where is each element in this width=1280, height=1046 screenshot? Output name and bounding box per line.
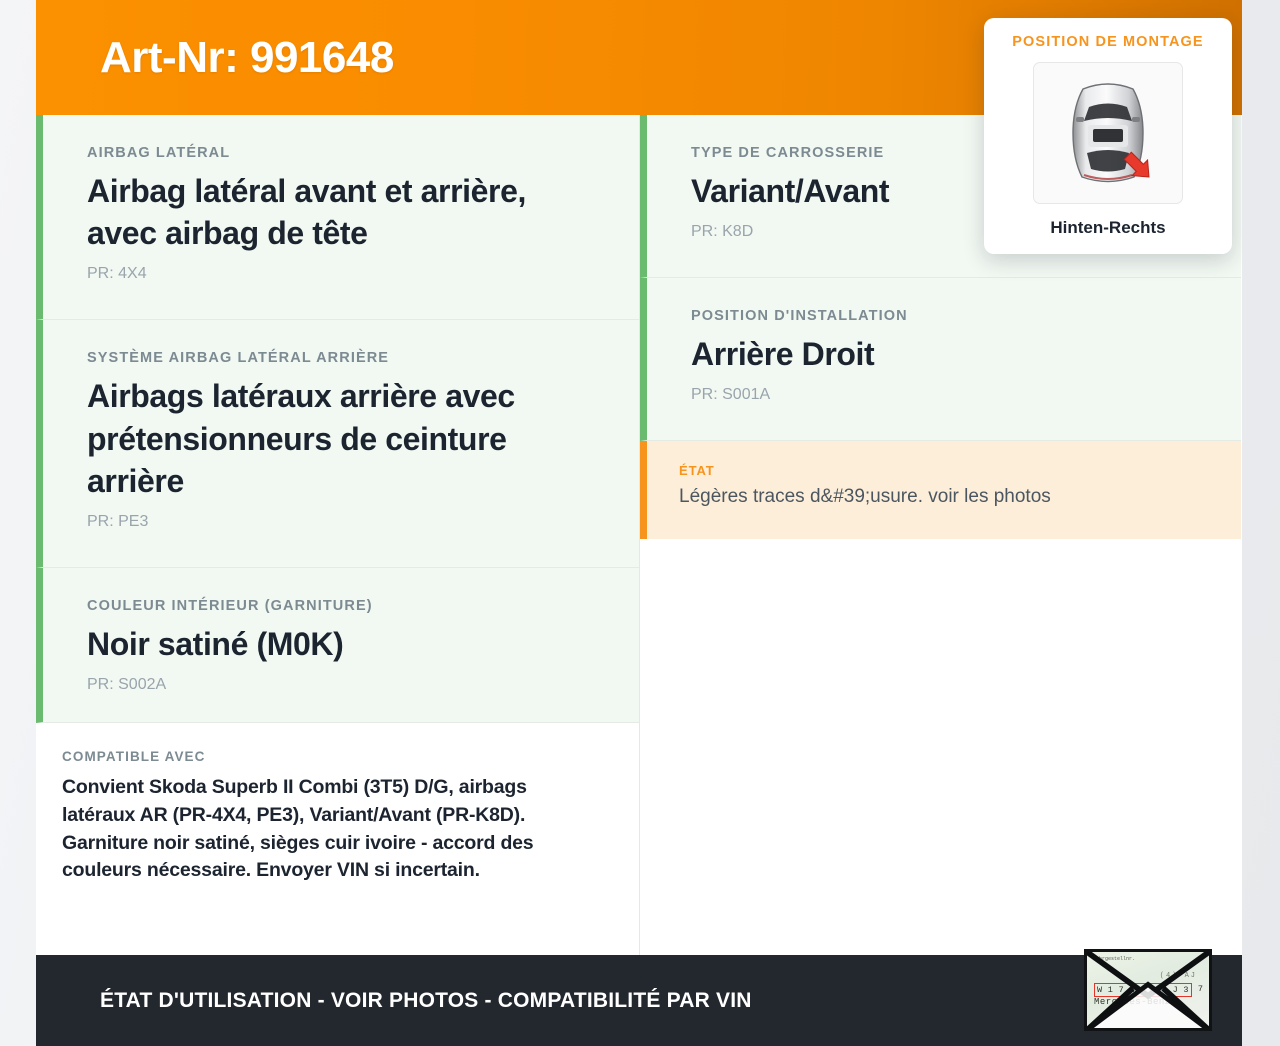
condition-value: Légères traces d&#39;usure. voir les pho… (679, 484, 1197, 511)
spec-value: Airbags latéraux arrière avec prétension… (87, 375, 595, 502)
spec-label: COULEUR INTÉRIEUR (GARNITURE) (87, 598, 595, 614)
spec-value: Noir satiné (M0K) (87, 623, 595, 665)
spec-label: SYSTÈME AIRBAG LATÉRAL ARRIÈRE (87, 350, 595, 366)
spec-pr-code: PR: S002A (87, 676, 595, 694)
spec-label: POSITION D'INSTALLATION (691, 308, 1197, 324)
mount-position-figure (1033, 62, 1183, 204)
envelope-icon (1087, 952, 1209, 1030)
spec-value: Airbag latéral avant et arrière, avec ai… (87, 170, 595, 254)
spec-card-position-d-installation: POSITION D'INSTALLATION Arrière Droit PR… (640, 278, 1241, 441)
product-detail-page: Art-Nr: 991648 POSITION DE MONTAGE (36, 0, 1242, 1046)
spec-pr-code: PR: S001A (691, 386, 1197, 404)
compatibility-text: Convient Skoda Superb II Combi (3T5) D/G… (62, 774, 582, 885)
compatibility-label: COMPATIBLE AVEC (62, 749, 595, 764)
spec-label: AIRBAG LATÉRAL (87, 145, 595, 161)
article-number-title: Art-Nr: 991648 (100, 33, 394, 83)
spec-card-couleur-interieur: COULEUR INTÉRIEUR (GARNITURE) Noir satin… (36, 568, 639, 723)
left-column: AIRBAG LATÉRAL Airbag latéral avant et a… (36, 115, 640, 955)
spec-pr-code: PR: 4X4 (87, 265, 595, 283)
spec-pr-code: PR: PE3 (87, 513, 595, 531)
mount-position-title: POSITION DE MONTAGE (998, 34, 1218, 50)
condition-card: ÉTAT Légères traces d&#39;usure. voir le… (640, 441, 1241, 539)
spec-card-airbag-lateral: AIRBAG LATÉRAL Airbag latéral avant et a… (36, 115, 639, 320)
compatibility-section: COMPATIBLE AVEC Convient Skoda Superb II… (36, 723, 639, 915)
page-footer: ÉTAT D'UTILISATION - VOIR PHOTOS - COMPA… (36, 955, 1242, 1046)
mount-position-card: POSITION DE MONTAGE (984, 18, 1232, 254)
footer-notice: ÉTAT D'UTILISATION - VOIR PHOTOS - COMPA… (100, 989, 752, 1013)
condition-label: ÉTAT (679, 463, 1197, 478)
vin-document-badge: Fahrgestellnr. (4) AJ W 1 7 1 4 6 3 J 3 … (1084, 949, 1212, 1031)
spec-value: Arrière Droit (691, 333, 1197, 375)
mount-position-caption: Hinten-Rechts (998, 218, 1218, 238)
spec-card-systeme-airbag-lateral-arriere: SYSTÈME AIRBAG LATÉRAL ARRIÈRE Airbags l… (36, 320, 639, 568)
car-top-view-with-arrow-icon (1053, 73, 1163, 193)
